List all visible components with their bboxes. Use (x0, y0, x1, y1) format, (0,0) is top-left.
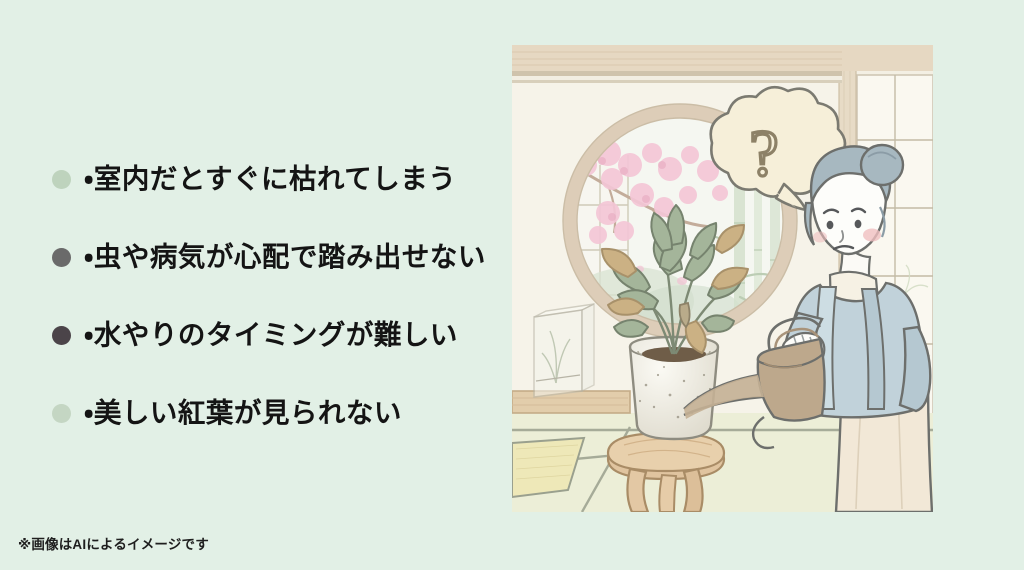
ai-illustration: ? (512, 45, 933, 512)
slide-root: ・室内だとすぐに枯れてしまう ・虫や病気が心配で踏み出せない ・水やりのタイミン… (0, 0, 1024, 570)
list-item: ・室内だとすぐに枯れてしまう (52, 140, 482, 218)
bullet-dot-gray (52, 248, 71, 267)
bullet-text: ・水やりのタイミングが難しい (84, 321, 458, 349)
bullet-text: ・美しい紅葉が見られない (84, 399, 402, 427)
ai-image-disclaimer: ※画像はAIによるイメージです (18, 533, 209, 553)
bullet-text: ・室内だとすぐに枯れてしまう (84, 165, 456, 193)
bullet-dot-dark-gray (52, 326, 71, 345)
list-item: ・美しい紅葉が見られない (52, 374, 482, 452)
bullet-dot-pale-green (52, 170, 71, 189)
list-item: ・虫や病気が心配で踏み出せない (52, 218, 482, 296)
list-item: ・水やりのタイミングが難しい (52, 296, 482, 374)
bullet-text: ・虫や病気が心配で踏み出せない (84, 243, 486, 271)
svg-text:?: ? (749, 117, 778, 190)
bullet-dot-pale-green-2 (52, 404, 71, 423)
problem-bullet-list: ・室内だとすぐに枯れてしまう ・虫や病気が心配で踏み出せない ・水やりのタイミン… (52, 140, 482, 452)
